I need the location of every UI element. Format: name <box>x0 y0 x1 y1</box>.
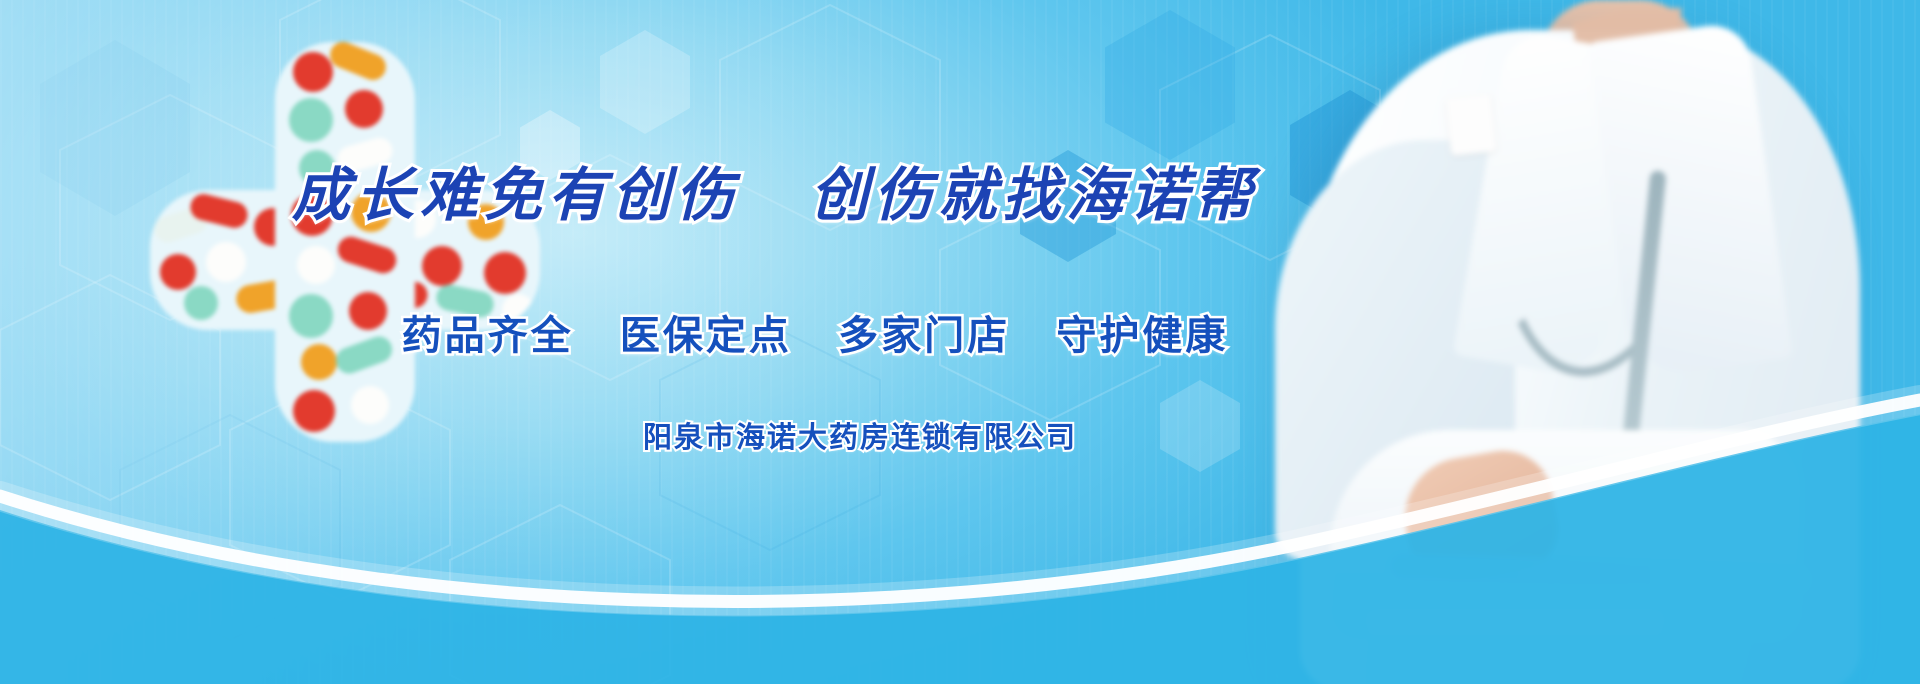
white-wave-divider <box>0 384 1920 684</box>
pill-cross-graphic <box>150 42 540 442</box>
pill-cross-vertical-arm <box>275 42 415 442</box>
pharmacy-banner: 成长难免有创伤 创伤就找海诺帮 药品齐全 医保定点 多家门店 守护健康 阳泉市海… <box>0 0 1920 684</box>
